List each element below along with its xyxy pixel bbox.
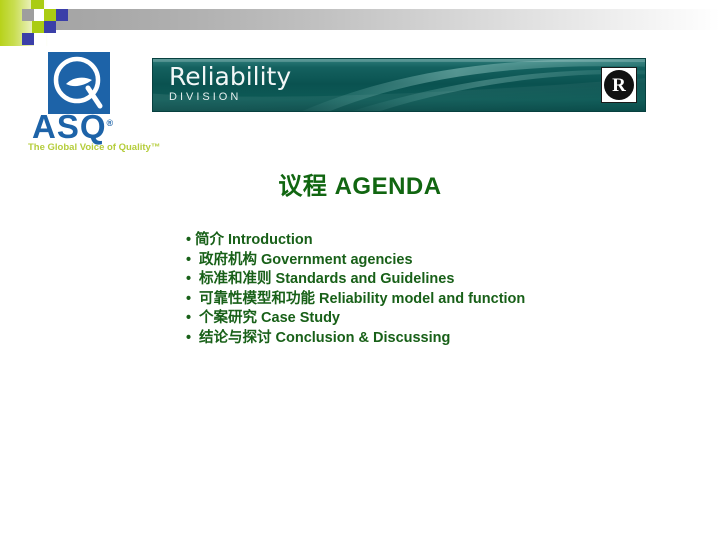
decor-square-white-1	[34, 9, 44, 21]
banner-text-group: Reliability DIVISION	[169, 64, 291, 103]
registered-r-letter: R	[604, 70, 634, 100]
asq-wordmark-text: ASQ	[32, 108, 107, 145]
agenda-item-4: •可靠性模型和功能 Reliability model and function	[186, 290, 666, 310]
asq-wordmark: ASQ®	[32, 110, 144, 143]
agenda-item-2: •政府机构 Government agencies	[186, 251, 666, 271]
bullet-icon: •	[186, 309, 199, 329]
agenda-item-6-label: 结论与探讨 Conclusion & Discussing	[199, 330, 450, 346]
bullet-icon: •	[186, 329, 199, 349]
decor-square-green-2	[32, 21, 44, 33]
banner-title: Reliability	[169, 64, 291, 89]
top-decorative-band	[0, 0, 720, 46]
banner-subtitle: DIVISION	[169, 92, 291, 103]
reliability-division-banner: Reliability DIVISION R	[152, 58, 646, 112]
agenda-item-2-label: 政府机构 Government agencies	[199, 252, 413, 268]
agenda-item-5-label: 个案研究 Case Study	[199, 310, 340, 326]
grey-gradient-bar	[22, 9, 720, 30]
decor-square-blue-1	[56, 9, 68, 21]
decor-square-green-top	[31, 0, 44, 9]
bullet-icon: •	[186, 251, 199, 271]
agenda-item-3: •标准和准则 Standards and Guidelines	[186, 270, 666, 290]
agenda-bullet-list: •简介 Introduction •政府机构 Government agenci…	[186, 231, 666, 348]
agenda-item-5: •个案研究 Case Study	[186, 309, 666, 329]
asq-tagline: The Global Voice of Quality™	[28, 142, 150, 153]
agenda-item-6: •结论与探讨 Conclusion & Discussing	[186, 329, 666, 349]
bullet-icon: •	[186, 270, 199, 290]
agenda-item-1-label: 简介 Introduction	[195, 232, 313, 248]
asq-trademark: ®	[107, 118, 115, 128]
decor-square-white-2	[34, 33, 46, 46]
agenda-item-3-label: 标准和准则 Standards and Guidelines	[199, 271, 454, 287]
bullet-icon: •	[186, 231, 195, 251]
registered-r-badge: R	[601, 67, 637, 103]
decor-square-grey-1	[22, 9, 34, 21]
bullet-icon: •	[186, 290, 199, 310]
decor-square-green-1	[44, 9, 56, 21]
asq-q-mark	[48, 52, 110, 114]
asq-logo: ASQ® The Global Voice of Quality™	[26, 52, 148, 162]
agenda-item-1: •简介 Introduction	[186, 231, 666, 251]
slide-title: 议程 AGENDA	[0, 166, 720, 201]
decor-square-blue-3	[22, 33, 34, 45]
agenda-item-4-label: 可靠性模型和功能 Reliability model and function	[199, 291, 525, 307]
decor-square-blue-2	[44, 21, 56, 33]
